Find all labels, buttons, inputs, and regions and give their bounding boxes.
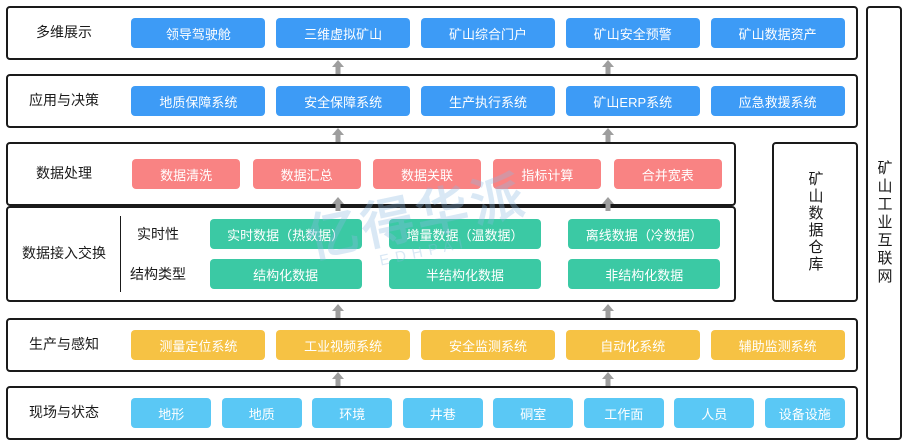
- chip-process-5[interactable]: 合并宽表: [614, 159, 722, 189]
- chip-realtime-3[interactable]: 离线数据（冷数据）: [568, 219, 720, 249]
- chip-production-3[interactable]: 安全监测系统: [421, 330, 555, 360]
- layer-divider: [120, 216, 121, 292]
- arrow-up-production-to-access-2: [600, 304, 616, 320]
- chip-field-5[interactable]: 硐室: [493, 398, 573, 428]
- chip-apps-1[interactable]: 地质保障系统: [131, 86, 265, 116]
- chip-structure-3[interactable]: 非结构化数据: [568, 259, 720, 289]
- arrow-up-field-to-production-2: [600, 372, 616, 388]
- chip-realtime-2[interactable]: 增量数据（温数据）: [389, 219, 541, 249]
- chip-production-4[interactable]: 自动化系统: [566, 330, 700, 360]
- chip-field-2[interactable]: 地质: [222, 398, 302, 428]
- layer-body-data-access: 实时性 实时数据（热数据） 增量数据（温数据） 离线数据（冷数据） 结构类型 结…: [120, 208, 734, 300]
- chip-production-5[interactable]: 辅助监测系统: [711, 330, 845, 360]
- chip-field-1[interactable]: 地形: [131, 398, 211, 428]
- chip-apps-5[interactable]: 应急救援系统: [711, 86, 845, 116]
- chip-field-6[interactable]: 工作面: [584, 398, 664, 428]
- chip-production-1[interactable]: 测量定位系统: [131, 330, 265, 360]
- sub-body-realtime: 实时数据（热数据） 增量数据（温数据） 离线数据（冷数据）: [196, 219, 734, 249]
- industrial-internet-label: 矿山工业互联网: [874, 160, 895, 286]
- chip-apps-4[interactable]: 矿山ERP系统: [566, 86, 700, 116]
- layer-label-data-access: 数据接入交换: [8, 245, 120, 263]
- layer-body-apps: 地质保障系统 安全保障系统 生产执行系统 矿山ERP系统 应急救援系统: [120, 76, 856, 126]
- arrow-up-apps-to-multidim-1: [330, 60, 346, 76]
- chip-field-7[interactable]: 人员: [674, 398, 754, 428]
- sub-label-realtime: 实时性: [120, 224, 196, 244]
- layer-data-processing: 数据处理 数据清洗 数据汇总 数据关联 指标计算 合并宽表: [6, 142, 736, 206]
- chip-apps-3[interactable]: 生产执行系统: [421, 86, 555, 116]
- data-warehouse-box: 矿山数据仓库: [772, 142, 858, 302]
- layer-multidim: 多维展示 领导驾驶舱 三维虚拟矿山 矿山综合门户 矿山安全预警 矿山数据资产: [6, 6, 858, 60]
- chip-realtime-1[interactable]: 实时数据（热数据）: [210, 219, 362, 249]
- sub-label-structure: 结构类型: [120, 264, 196, 284]
- sub-row-realtime: 实时性 实时数据（热数据） 增量数据（温数据） 离线数据（冷数据）: [120, 218, 734, 250]
- chip-process-3[interactable]: 数据关联: [373, 159, 481, 189]
- arrow-up-production-to-access-1: [330, 304, 346, 320]
- layer-data-access: 数据接入交换 实时性 实时数据（热数据） 增量数据（温数据） 离线数据（冷数据）…: [6, 206, 736, 302]
- arrow-up-field-to-production-1: [330, 372, 346, 388]
- chip-apps-2[interactable]: 安全保障系统: [276, 86, 410, 116]
- chip-production-2[interactable]: 工业视频系统: [276, 330, 410, 360]
- layer-body-data-processing: 数据清洗 数据汇总 数据关联 指标计算 合并宽表: [120, 144, 734, 204]
- chip-process-4[interactable]: 指标计算: [493, 159, 601, 189]
- layer-apps: 应用与决策 地质保障系统 安全保障系统 生产执行系统 矿山ERP系统 应急救援系…: [6, 74, 858, 128]
- layer-body-multidim: 领导驾驶舱 三维虚拟矿山 矿山综合门户 矿山安全预警 矿山数据资产: [120, 8, 856, 58]
- sub-body-structure: 结构化数据 半结构化数据 非结构化数据: [196, 259, 734, 289]
- chip-multidim-1[interactable]: 领导驾驶舱: [131, 18, 265, 48]
- chip-multidim-2[interactable]: 三维虚拟矿山: [276, 18, 410, 48]
- arrow-up-process-to-apps-2: [600, 128, 616, 144]
- chip-multidim-4[interactable]: 矿山安全预警: [566, 18, 700, 48]
- chip-process-2[interactable]: 数据汇总: [253, 159, 361, 189]
- layer-label-field-status: 现场与状态: [8, 404, 120, 422]
- arrow-up-access-to-process-2: [600, 197, 616, 213]
- layer-label-production: 生产与感知: [8, 336, 120, 354]
- layer-label-apps: 应用与决策: [8, 92, 120, 110]
- chip-field-8[interactable]: 设备设施: [765, 398, 845, 428]
- layer-field-status: 现场与状态 地形 地质 环境 井巷 硐室 工作面 人员 设备设施: [6, 386, 858, 440]
- chip-field-4[interactable]: 井巷: [403, 398, 483, 428]
- layer-label-data-processing: 数据处理: [8, 165, 120, 183]
- chip-structure-2[interactable]: 半结构化数据: [389, 259, 541, 289]
- layer-production: 生产与感知 测量定位系统 工业视频系统 安全监测系统 自动化系统 辅助监测系统: [6, 318, 858, 372]
- arrow-up-apps-to-multidim-2: [600, 60, 616, 76]
- chip-process-1[interactable]: 数据清洗: [132, 159, 240, 189]
- chip-structure-1[interactable]: 结构化数据: [210, 259, 362, 289]
- sub-row-structure: 结构类型 结构化数据 半结构化数据 非结构化数据: [120, 258, 734, 290]
- layer-body-field-status: 地形 地质 环境 井巷 硐室 工作面 人员 设备设施: [120, 388, 856, 438]
- diagram-root: 亿得华派 EDHPAI 多维展示 领导驾驶舱 三维虚拟矿山 矿山综合门户 矿山安…: [0, 0, 906, 447]
- industrial-internet-box: 矿山工业互联网: [866, 6, 902, 440]
- chip-field-3[interactable]: 环境: [312, 398, 392, 428]
- chip-multidim-3[interactable]: 矿山综合门户: [421, 18, 555, 48]
- layer-body-production: 测量定位系统 工业视频系统 安全监测系统 自动化系统 辅助监测系统: [120, 320, 856, 370]
- arrow-up-process-to-apps-1: [330, 128, 346, 144]
- chip-multidim-5[interactable]: 矿山数据资产: [711, 18, 845, 48]
- data-warehouse-label: 矿山数据仓库: [805, 171, 826, 273]
- layer-label-multidim: 多维展示: [8, 24, 120, 42]
- arrow-up-access-to-process-1: [330, 197, 346, 213]
